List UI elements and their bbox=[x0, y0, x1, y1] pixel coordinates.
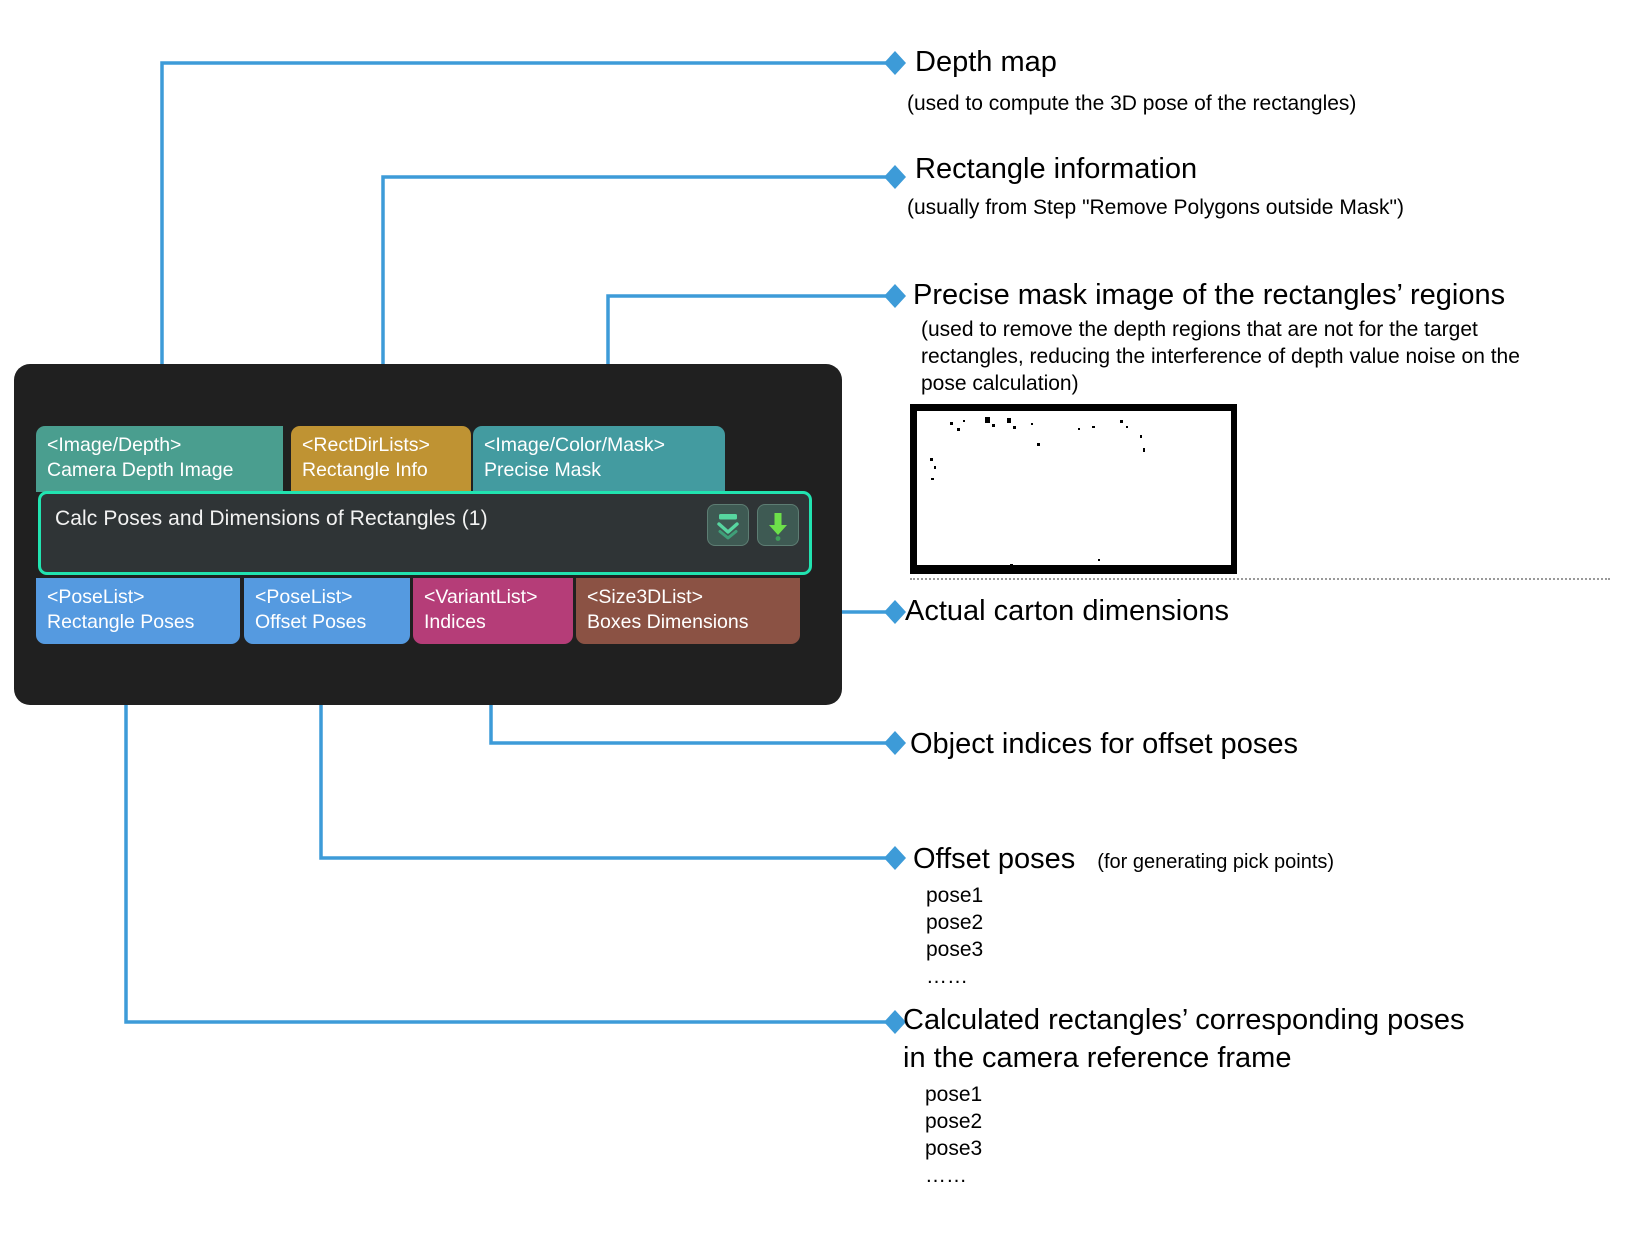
mask-white-region bbox=[917, 411, 1231, 565]
output-port-label: Indices bbox=[424, 610, 562, 635]
input-port-rectangle-info[interactable]: <RectDirLists> Rectangle Info bbox=[291, 426, 471, 492]
output-arrow-down-icon[interactable] bbox=[757, 504, 799, 546]
input-port-type: <Image/Color/Mask> bbox=[484, 433, 714, 458]
node-output-ports: <PoseList> Rectangle Poses <PoseList> Of… bbox=[36, 578, 800, 644]
annotation-title: Precise mask image of the rectangles’ re… bbox=[913, 278, 1563, 312]
annotation-subtitle: (usually from Step "Remove Polygons outs… bbox=[907, 194, 1404, 221]
list-item: …… bbox=[925, 1162, 1465, 1189]
annotation-title: Object indices for offset poses bbox=[910, 727, 1298, 761]
output-port-type: <PoseList> bbox=[47, 585, 229, 610]
output-port-label: Offset Poses bbox=[255, 610, 399, 635]
diamond-label-rect bbox=[884, 165, 906, 189]
input-port-camera-depth-image[interactable]: <Image/Depth> Camera Depth Image bbox=[36, 426, 283, 492]
annotation-title: Rectangle information bbox=[915, 152, 1404, 186]
wire-rectangle-poses bbox=[126, 651, 886, 1022]
annotation-title-line2: in the camera reference frame bbox=[903, 1041, 1465, 1075]
input-port-type: <RectDirLists> bbox=[302, 433, 460, 458]
annotation-precise-mask: Precise mask image of the rectangles’ re… bbox=[913, 278, 1563, 397]
annotation-note: (for generating pick points) bbox=[1097, 851, 1334, 874]
section-divider bbox=[910, 578, 1610, 580]
output-port-rectangle-poses[interactable]: <PoseList> Rectangle Poses bbox=[36, 578, 240, 644]
annotation-title: Depth map bbox=[915, 45, 1356, 79]
input-port-label: Precise Mask bbox=[484, 458, 714, 483]
diamond-label-mask bbox=[884, 284, 906, 308]
list-item: pose3 bbox=[926, 936, 1334, 963]
list-item: pose1 bbox=[925, 1081, 1465, 1108]
annotation-carton-dimensions: Actual carton dimensions bbox=[905, 594, 1229, 628]
output-port-boxes-dimensions[interactable]: <Size3DList> Boxes Dimensions bbox=[576, 578, 800, 644]
diamond-label-depth bbox=[884, 51, 906, 75]
output-port-type: <PoseList> bbox=[255, 585, 399, 610]
input-port-precise-mask[interactable]: <Image/Color/Mask> Precise Mask bbox=[473, 426, 725, 492]
output-port-indices[interactable]: <VariantList> Indices bbox=[413, 578, 573, 644]
precise-mask-preview-image bbox=[910, 404, 1237, 574]
node-input-ports: <Image/Depth> Camera Depth Image <RectDi… bbox=[36, 426, 725, 492]
annotation-subtitle: (used to remove the depth regions that a… bbox=[921, 316, 1549, 397]
input-port-label: Rectangle Info bbox=[302, 458, 460, 483]
annotation-rectangle-information: Rectangle information (usually from Step… bbox=[915, 152, 1404, 221]
diamond-label-indices bbox=[884, 731, 906, 755]
step-title: Calc Poses and Dimensions of Rectangles … bbox=[55, 507, 488, 531]
diamond-label-boxdims bbox=[884, 600, 906, 624]
input-port-label: Camera Depth Image bbox=[47, 458, 272, 483]
collapse-chevrons-down-icon[interactable] bbox=[707, 504, 749, 546]
annotation-rectangle-poses: Calculated rectangles’ corresponding pos… bbox=[903, 1003, 1465, 1189]
annotation-object-indices: Object indices for offset poses bbox=[910, 727, 1298, 761]
annotation-title: Actual carton dimensions bbox=[905, 594, 1229, 628]
output-port-label: Boxes Dimensions bbox=[587, 610, 789, 635]
annotation-depth-map: Depth map (used to compute the 3D pose o… bbox=[915, 45, 1356, 117]
output-port-label: Rectangle Poses bbox=[47, 610, 229, 635]
diamond-label-offsetposes bbox=[884, 846, 906, 870]
list-item: pose1 bbox=[926, 882, 1334, 909]
input-port-type: <Image/Depth> bbox=[47, 433, 272, 458]
step-body[interactable]: Calc Poses and Dimensions of Rectangles … bbox=[38, 491, 812, 575]
list-item: pose2 bbox=[925, 1108, 1465, 1135]
output-port-type: <VariantList> bbox=[424, 585, 562, 610]
output-port-offset-poses[interactable]: <PoseList> Offset Poses bbox=[244, 578, 410, 644]
list-item: pose2 bbox=[926, 909, 1334, 936]
annotation-subtitle: (used to compute the 3D pose of the rect… bbox=[907, 90, 1356, 117]
output-port-type: <Size3DList> bbox=[587, 585, 789, 610]
annotation-offset-poses: Offset poses (for generating pick points… bbox=[913, 842, 1334, 990]
list-item: …… bbox=[926, 963, 1334, 990]
annotation-title: Offset poses bbox=[913, 842, 1075, 876]
annotation-title-line1: Calculated rectangles’ corresponding pos… bbox=[903, 1003, 1465, 1037]
list-item: pose3 bbox=[925, 1135, 1465, 1162]
